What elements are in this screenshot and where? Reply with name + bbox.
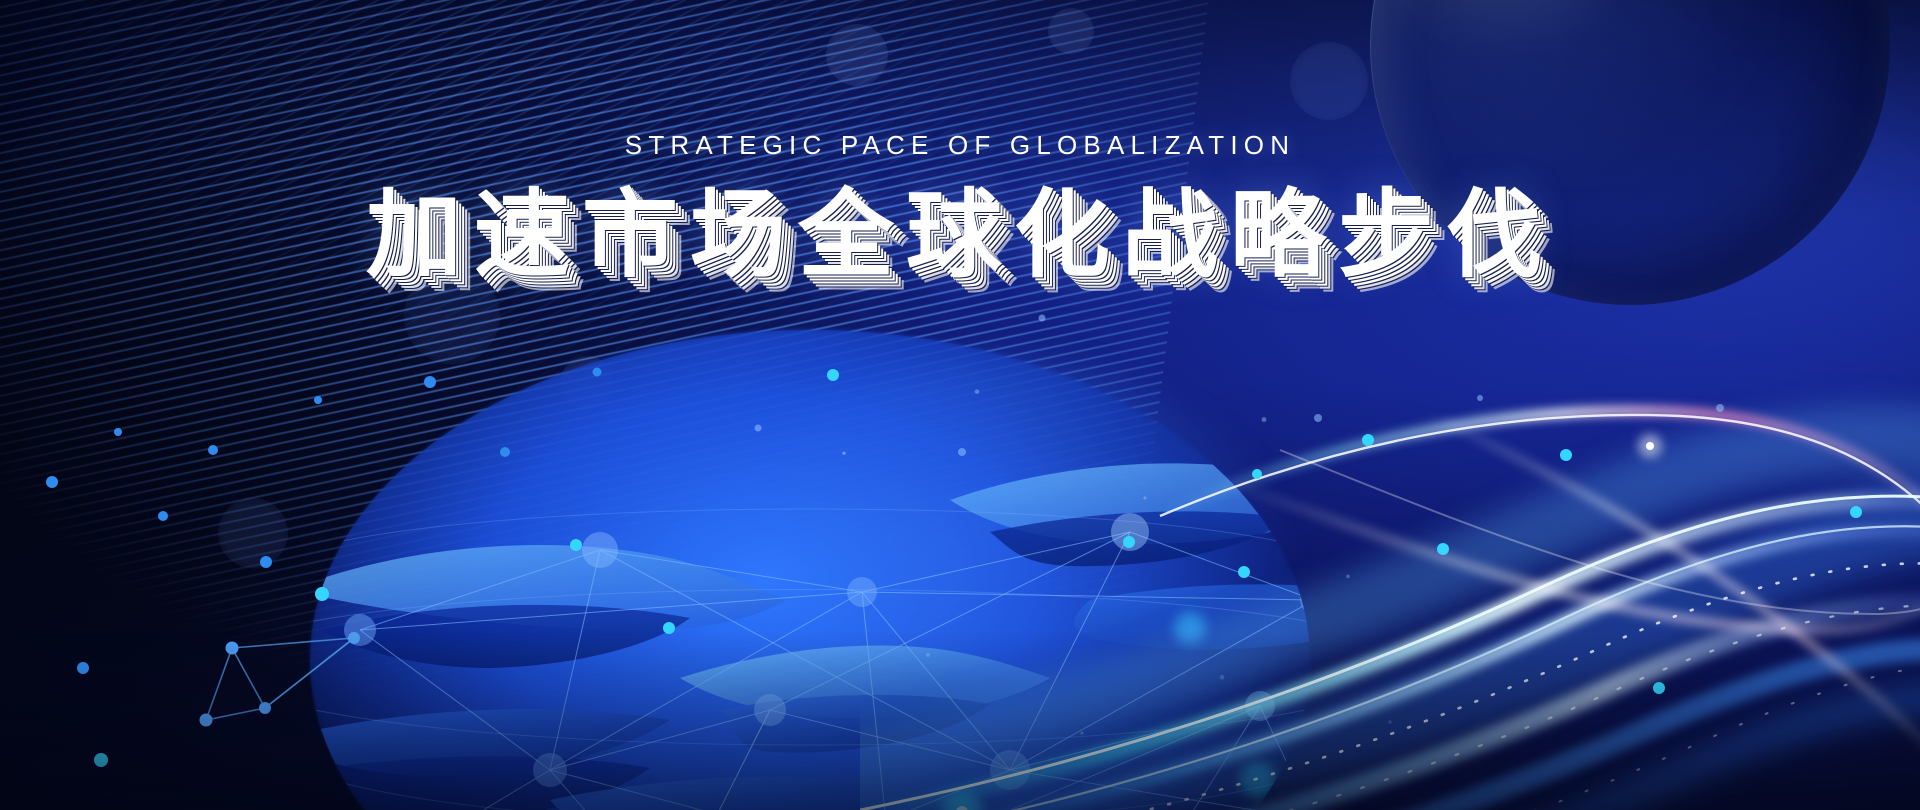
- hero-text-block: STRATEGIC PACE OF GLOBALIZATION 加速市场全球化战…: [0, 132, 1920, 288]
- node-constellation: [60, 480, 480, 810]
- bokeh-circle: [1048, 8, 1094, 54]
- bokeh-circle: [1290, 42, 1368, 120]
- bokeh-circle: [826, 24, 888, 86]
- hero-banner: STRATEGIC PACE OF GLOBALIZATION 加速市场全球化战…: [0, 0, 1920, 810]
- banner-subtitle: STRATEGIC PACE OF GLOBALIZATION: [0, 132, 1920, 158]
- light-streak-ribbons: [860, 300, 1920, 810]
- banner-headline: 加速市场全球化战略步伐: [0, 184, 1920, 288]
